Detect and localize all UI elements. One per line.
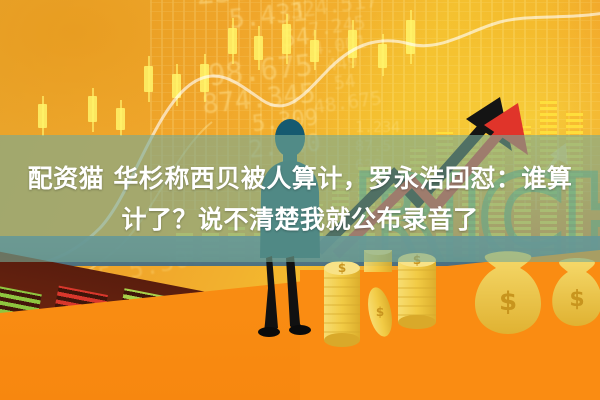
news-banner: 23.453 5.431 54 98.675 874.345 5.309 2.3… xyxy=(0,0,600,400)
floor-surface-right xyxy=(300,270,600,400)
headline-line-1: 配资猫 华杉称西贝被人算计，罗永浩回怼：谁算 xyxy=(28,158,573,199)
headline-text: 配资猫 华杉称西贝被人算计，罗永浩回怼：谁算 计了？说不清楚我就公布录音了 xyxy=(0,135,600,262)
headline-line-2: 计了？说不清楚我就公布录音了 xyxy=(121,199,478,240)
